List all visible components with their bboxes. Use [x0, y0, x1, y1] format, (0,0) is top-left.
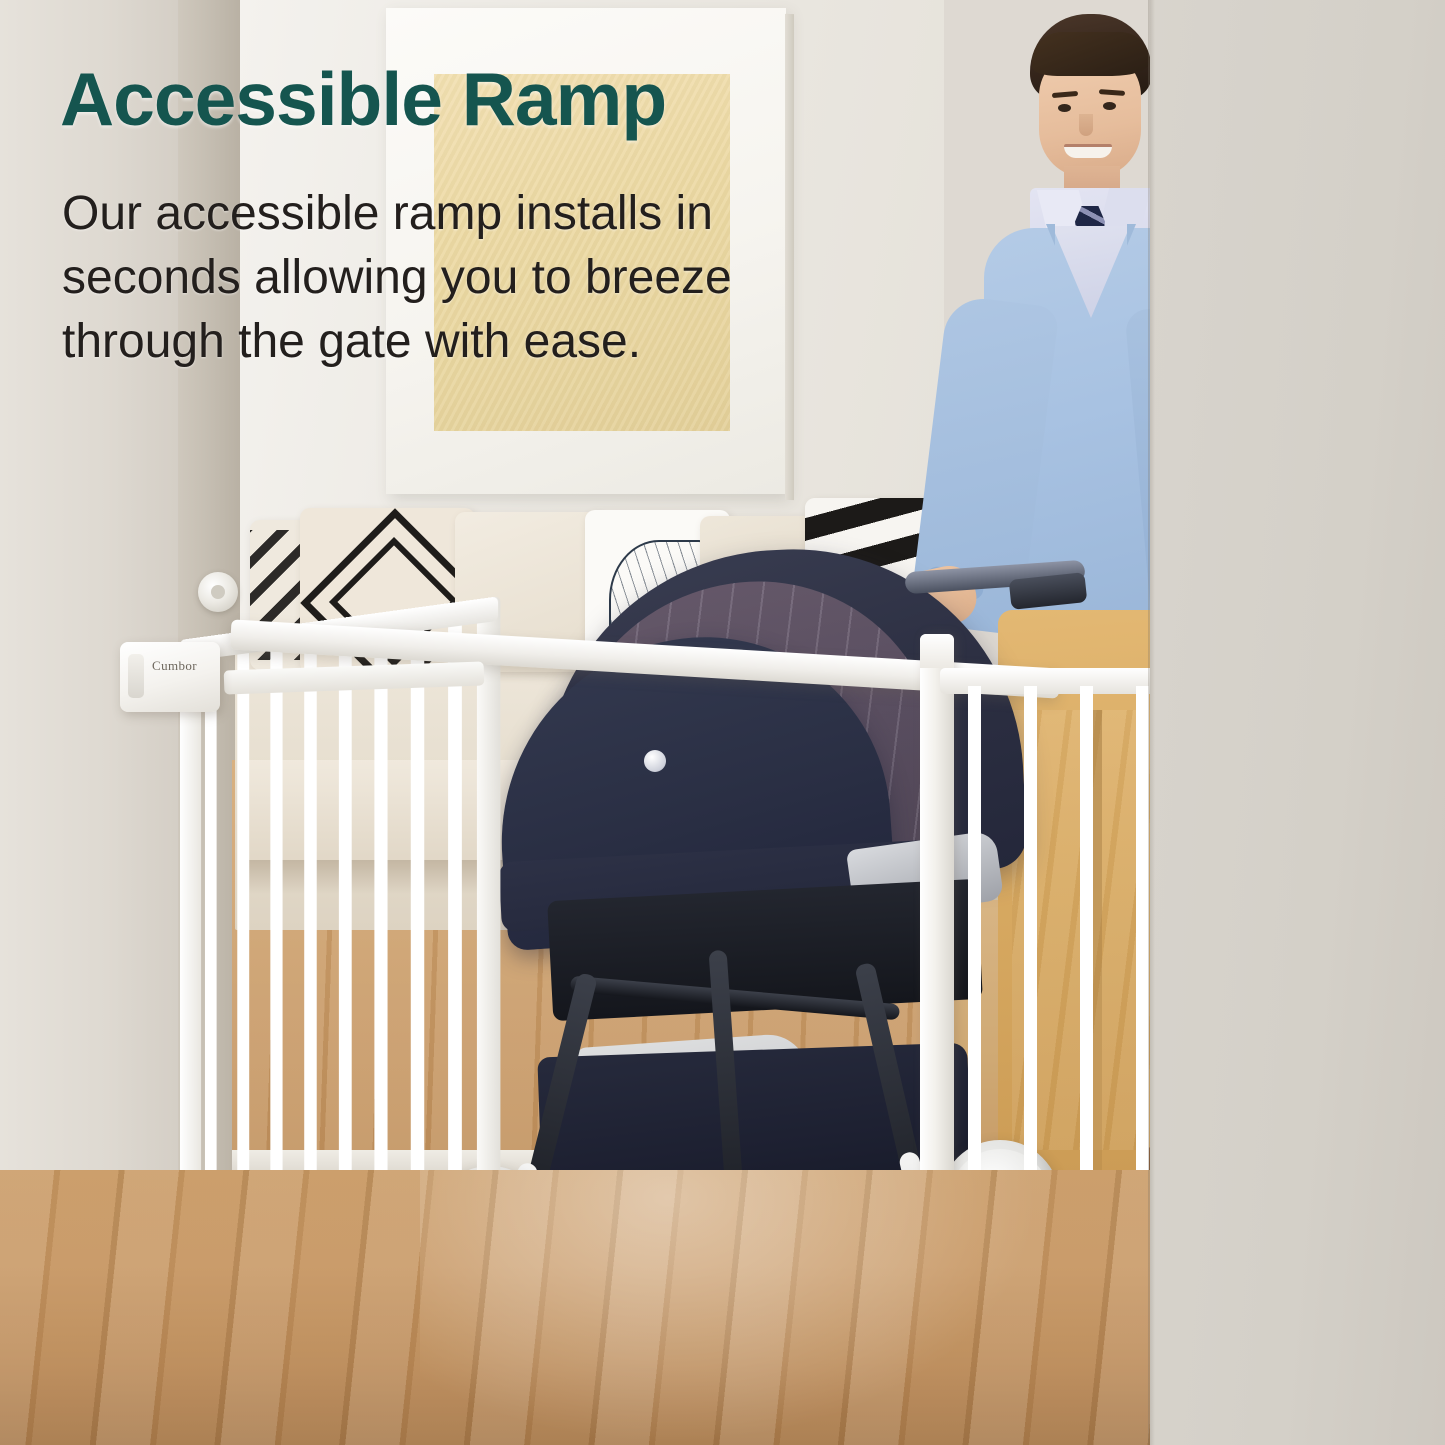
body-copy-line-2: seconds allowing you to breeze	[62, 246, 852, 310]
product-marketing-image: Cumbor Accessible Ramp Our accessible ra…	[0, 0, 1445, 1445]
person-eye-left	[1058, 104, 1071, 112]
floor-reflection	[420, 1170, 1040, 1445]
body-copy: Our accessible ramp installs in seconds …	[62, 182, 852, 373]
body-copy-line-3: through the gate with ease.	[62, 310, 852, 374]
page-title: Accessible Ramp	[60, 62, 666, 137]
person-smile	[1064, 144, 1112, 158]
body-copy-line-1: Our accessible ramp installs in	[62, 182, 852, 246]
gate-wall-mount-bolt-top-left[interactable]	[198, 572, 238, 612]
floor-foreground	[0, 1170, 1160, 1445]
person-hair-fringe	[1032, 32, 1150, 76]
brand-logo-text: Cumbor	[152, 658, 197, 674]
person-nose	[1079, 114, 1093, 136]
wall-right-edge-shadow	[1148, 0, 1155, 1445]
wall-right	[1150, 0, 1445, 1445]
person-eye-right	[1103, 102, 1116, 110]
gate-latch-release-button[interactable]	[128, 654, 144, 698]
